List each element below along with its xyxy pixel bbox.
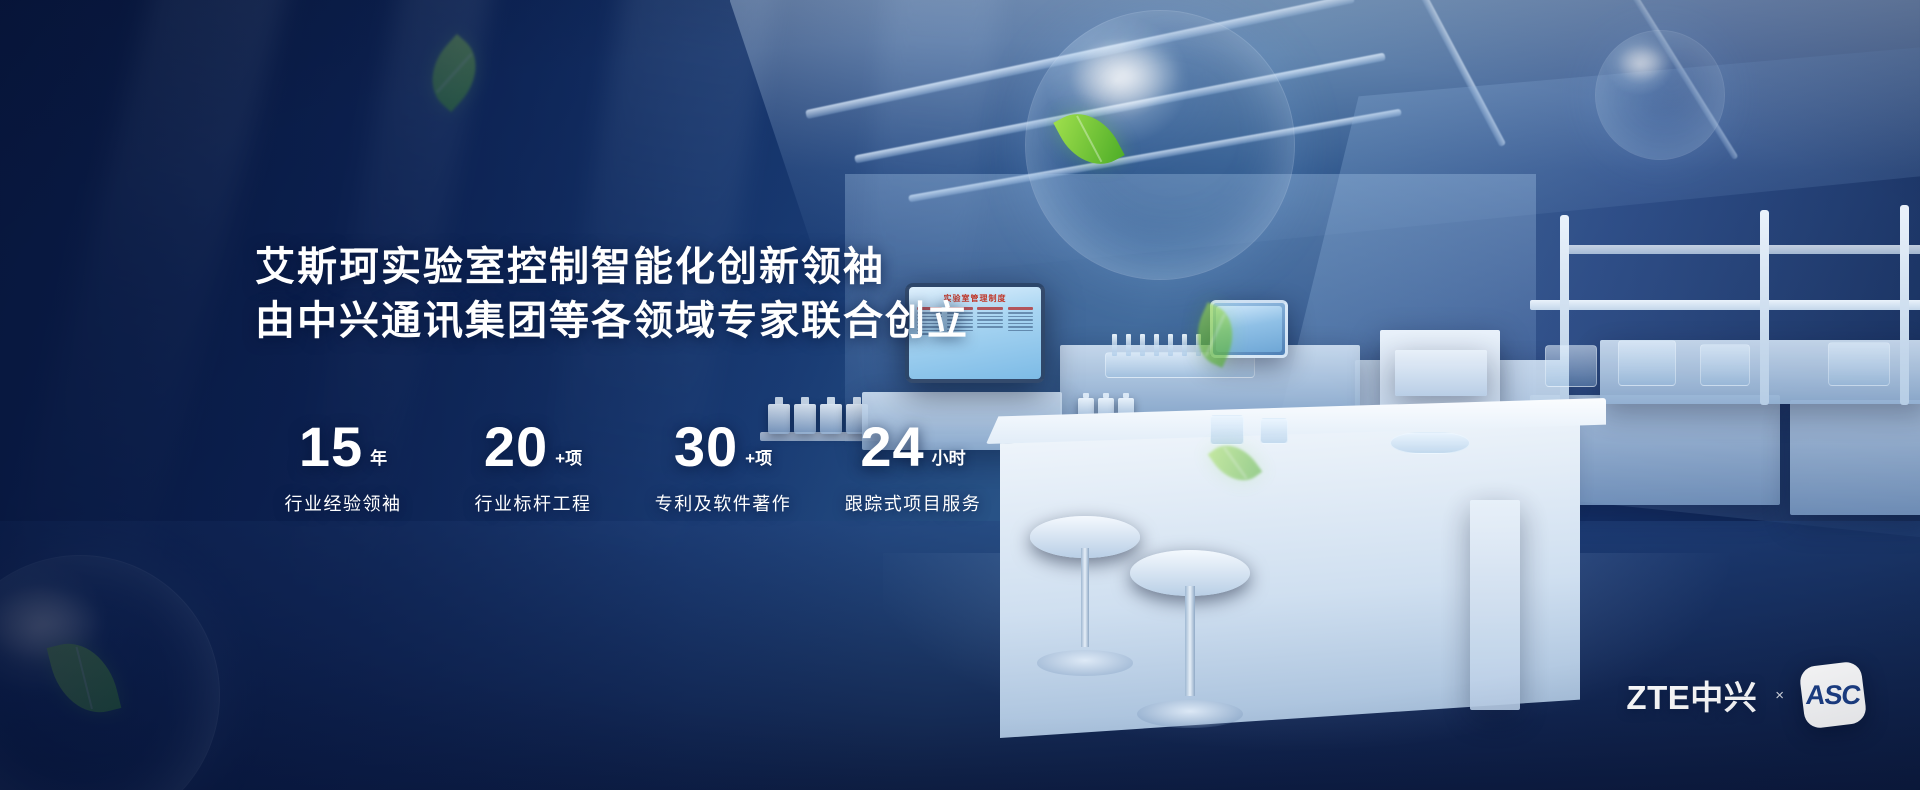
hero-banner: 实验室管理制度 xyxy=(0,0,1920,790)
stat-label: 行业经验领袖 xyxy=(248,490,438,516)
stool-base xyxy=(1037,650,1134,676)
stool-post xyxy=(1081,548,1090,647)
stool-base xyxy=(1137,700,1243,728)
glass-beaker xyxy=(1260,418,1288,444)
asc-logo-badge: ASC xyxy=(1798,660,1867,729)
stat-value-group: 30 +项 xyxy=(628,418,818,476)
lab-stool xyxy=(1130,550,1250,728)
glass-dish xyxy=(1390,432,1470,454)
fume-hood-frame xyxy=(1900,205,1909,405)
test-tube xyxy=(1154,334,1159,356)
stat-item-experience: 15 年 行业经验领袖 xyxy=(248,418,438,516)
glassware xyxy=(1828,342,1890,386)
test-tube xyxy=(1140,334,1145,356)
stat-label: 跟踪式项目服务 xyxy=(818,490,1008,516)
stat-item-patents: 30 +项 专利及软件著作 xyxy=(628,418,818,516)
logo-separator-icon: × xyxy=(1775,687,1784,704)
leaf-vein xyxy=(436,53,472,93)
stat-label: 行业标杆工程 xyxy=(438,490,628,516)
test-tube xyxy=(1168,334,1173,356)
bench-far-right xyxy=(1790,400,1920,515)
asc-logo-text: ASC xyxy=(1804,680,1861,711)
glassware xyxy=(1618,340,1676,386)
test-tube xyxy=(1182,334,1187,356)
headline-line-1: 艾斯珂实验室控制智能化创新领袖 xyxy=(255,240,1015,294)
shelf-right-upper xyxy=(1530,300,1920,310)
glassware xyxy=(1700,344,1750,386)
leaf-vein xyxy=(1223,447,1247,479)
stat-unit: +项 xyxy=(555,444,582,469)
stat-value-group: 15 年 xyxy=(248,418,438,476)
leaf-vein xyxy=(1076,116,1102,163)
leaf-vein xyxy=(76,647,93,709)
headline-line-2: 由中兴通讯集团等各领域专家联合创立 xyxy=(255,294,1015,348)
page-title: 艾斯珂实验室控制智能化创新领袖 由中兴通讯集团等各领域专家联合创立 xyxy=(255,240,1015,348)
stat-unit: 年 xyxy=(370,444,387,469)
stat-number: 20 xyxy=(484,418,548,476)
logo-lockup: ZTE中兴 × ASC xyxy=(1626,664,1864,726)
stat-item-service: 24 小时 跟踪式项目服务 xyxy=(818,418,1008,516)
test-tube xyxy=(1126,334,1131,356)
glass-beaker xyxy=(1210,415,1244,445)
shelf-right-upper xyxy=(1565,245,1920,254)
instrument-unit xyxy=(1395,350,1487,396)
stat-number: 24 xyxy=(860,418,924,476)
headline-block: 艾斯珂实验室控制智能化创新领袖 由中兴通讯集团等各领域专家联合创立 xyxy=(255,240,1015,348)
lab-stool xyxy=(1030,516,1140,676)
stat-number: 30 xyxy=(674,418,738,476)
stats-row: 15 年 行业经验领袖 20 +项 行业标杆工程 30 +项 专利及软件著作 2… xyxy=(248,418,1008,516)
stat-value-group: 20 +项 xyxy=(438,418,628,476)
stat-label: 专利及软件著作 xyxy=(628,490,818,516)
stat-unit: +项 xyxy=(745,444,772,469)
stool-post xyxy=(1185,586,1195,696)
stat-number: 15 xyxy=(299,418,363,476)
stat-unit: 小时 xyxy=(932,444,966,469)
stat-value-group: 24 小时 xyxy=(818,418,1008,476)
island-drawer-unit xyxy=(1470,500,1520,710)
bubble-small-top-right xyxy=(1595,30,1725,160)
stat-item-projects: 20 +项 行业标杆工程 xyxy=(438,418,628,516)
zte-logo-text: ZTE中兴 xyxy=(1626,671,1757,719)
glassware xyxy=(1545,345,1597,387)
fume-hood-frame xyxy=(1760,210,1769,405)
test-tube xyxy=(1112,334,1117,356)
leaf-vein xyxy=(1205,314,1225,356)
